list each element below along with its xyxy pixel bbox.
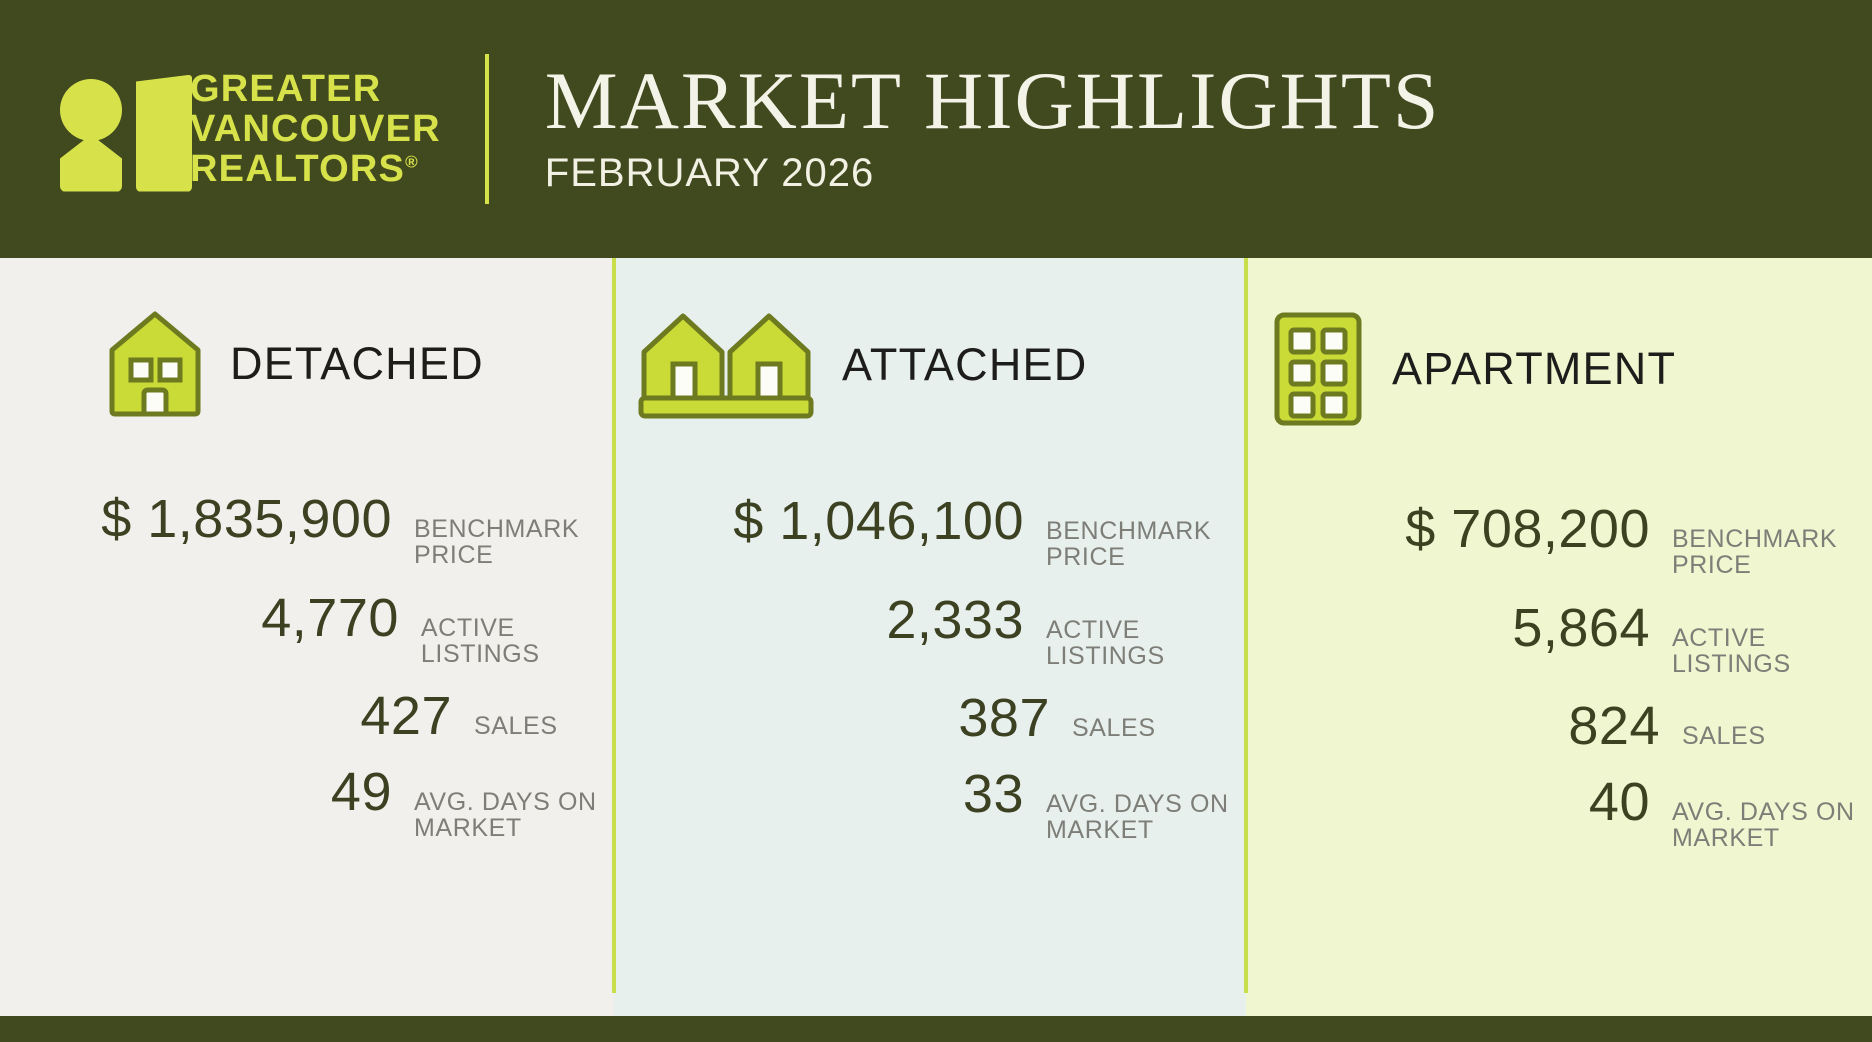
- gvr-logo-wordmark: GREATER VANCOUVER REALTORS®: [190, 69, 441, 190]
- stat-label: BENCHMARK PRICE: [414, 516, 614, 569]
- stat-label: SALES: [1682, 723, 1766, 749]
- stat-label: BENCHMARK PRICE: [1672, 526, 1872, 579]
- column-detached: DETACHED $ 1,835,900 BENCHMARK PRICE 4,7…: [0, 258, 614, 1016]
- logo-circle-shape: [60, 79, 122, 141]
- stat-row: $ 1,835,900 BENCHMARK PRICE: [20, 492, 614, 569]
- stat-value: 5,864: [1260, 601, 1650, 655]
- stat-row: 387 SALES: [630, 691, 1246, 745]
- stat-row: $ 1,046,100 BENCHMARK PRICE: [630, 494, 1246, 571]
- stat-label: AVG. DAYS ON MARKET: [1672, 799, 1872, 852]
- stat-label: AVG. DAYS ON MARKET: [414, 789, 614, 842]
- stat-row: 4,770 ACTIVE LISTINGS: [20, 591, 614, 668]
- column-attached: ATTACHED $ 1,046,100 BENCHMARK PRICE 2,3…: [614, 258, 1246, 1016]
- stats-apartment: $ 708,200 BENCHMARK PRICE 5,864 ACTIVE L…: [1246, 502, 1872, 852]
- stat-value: 4,770: [20, 591, 399, 645]
- stat-row: 33 AVG. DAYS ON MARKET: [630, 767, 1246, 844]
- stat-value: 824: [1260, 699, 1660, 753]
- header-titles: MARKET HIGHLIGHTS FEBRUARY 2026: [545, 62, 1441, 196]
- header-banner: GREATER VANCOUVER REALTORS® MARKET HIGHL…: [0, 0, 1872, 258]
- stat-label: ACTIVE LISTINGS: [1046, 617, 1246, 670]
- column-divider-2: [1244, 258, 1248, 993]
- stat-row: 824 SALES: [1260, 699, 1872, 753]
- stat-row: 49 AVG. DAYS ON MARKET: [20, 765, 614, 842]
- apartment-building-icon: [1272, 310, 1364, 428]
- stat-row: 427 SALES: [20, 689, 614, 743]
- stat-row: 2,333 ACTIVE LISTINGS: [630, 593, 1246, 670]
- stat-value: 33: [630, 767, 1024, 821]
- stat-label: ACTIVE LISTINGS: [1672, 625, 1872, 678]
- logo-tower-shape: [136, 75, 192, 192]
- logo-line-3: REALTORS®: [190, 149, 441, 189]
- column-header-apartment: APARTMENT: [1232, 310, 1872, 428]
- column-header-attached: ATTACHED: [606, 310, 1246, 420]
- gvr-logo: GREATER VANCOUVER REALTORS®: [52, 67, 441, 192]
- stat-value: 387: [630, 691, 1050, 745]
- stat-label: BENCHMARK PRICE: [1046, 518, 1246, 571]
- duplex-icon: [638, 310, 814, 420]
- stat-row: $ 708,200 BENCHMARK PRICE: [1260, 502, 1872, 579]
- gvr-logo-mark-icon: [52, 67, 180, 192]
- header-divider: [485, 54, 489, 204]
- stat-value: $ 1,046,100: [630, 494, 1024, 548]
- stat-row: 40 AVG. DAYS ON MARKET: [1260, 775, 1872, 852]
- stat-label: SALES: [1072, 715, 1156, 741]
- market-highlights-infographic: GREATER VANCOUVER REALTORS® MARKET HIGHL…: [0, 0, 1872, 1042]
- stat-label: AVG. DAYS ON MARKET: [1046, 791, 1246, 844]
- column-apartment: APARTMENT $ 708,200 BENCHMARK PRICE 5,86…: [1246, 258, 1872, 1016]
- stat-value: 40: [1260, 775, 1650, 829]
- logo-line-1: GREATER: [190, 69, 441, 109]
- page-subtitle: FEBRUARY 2026: [545, 151, 1441, 196]
- column-title-attached: ATTACHED: [842, 339, 1087, 391]
- stat-label: ACTIVE LISTINGS: [421, 615, 614, 668]
- column-title-apartment: APARTMENT: [1392, 343, 1676, 395]
- stats-detached: $ 1,835,900 BENCHMARK PRICE 4,770 ACTIVE…: [0, 492, 614, 842]
- page-title: MARKET HIGHLIGHTS: [545, 62, 1441, 141]
- stat-label: SALES: [474, 713, 558, 739]
- footer-strip: [0, 1016, 1872, 1042]
- stat-row: 5,864 ACTIVE LISTINGS: [1260, 601, 1872, 678]
- stat-value: 2,333: [630, 593, 1024, 647]
- column-divider-1: [612, 258, 616, 993]
- house-icon: [108, 310, 202, 418]
- column-header-detached: DETACHED: [108, 310, 614, 418]
- stats-attached: $ 1,046,100 BENCHMARK PRICE 2,333 ACTIVE…: [614, 494, 1246, 844]
- column-title-detached: DETACHED: [230, 338, 484, 390]
- logo-house-shape: [60, 135, 122, 192]
- stat-value: 427: [20, 689, 452, 743]
- logo-line-2: VANCOUVER: [190, 109, 441, 149]
- stat-value: $ 708,200: [1260, 502, 1650, 556]
- registered-mark: ®: [405, 152, 419, 171]
- columns-container: DETACHED $ 1,835,900 BENCHMARK PRICE 4,7…: [0, 258, 1872, 1016]
- stat-value: $ 1,835,900: [20, 492, 392, 546]
- stat-value: 49: [20, 765, 392, 819]
